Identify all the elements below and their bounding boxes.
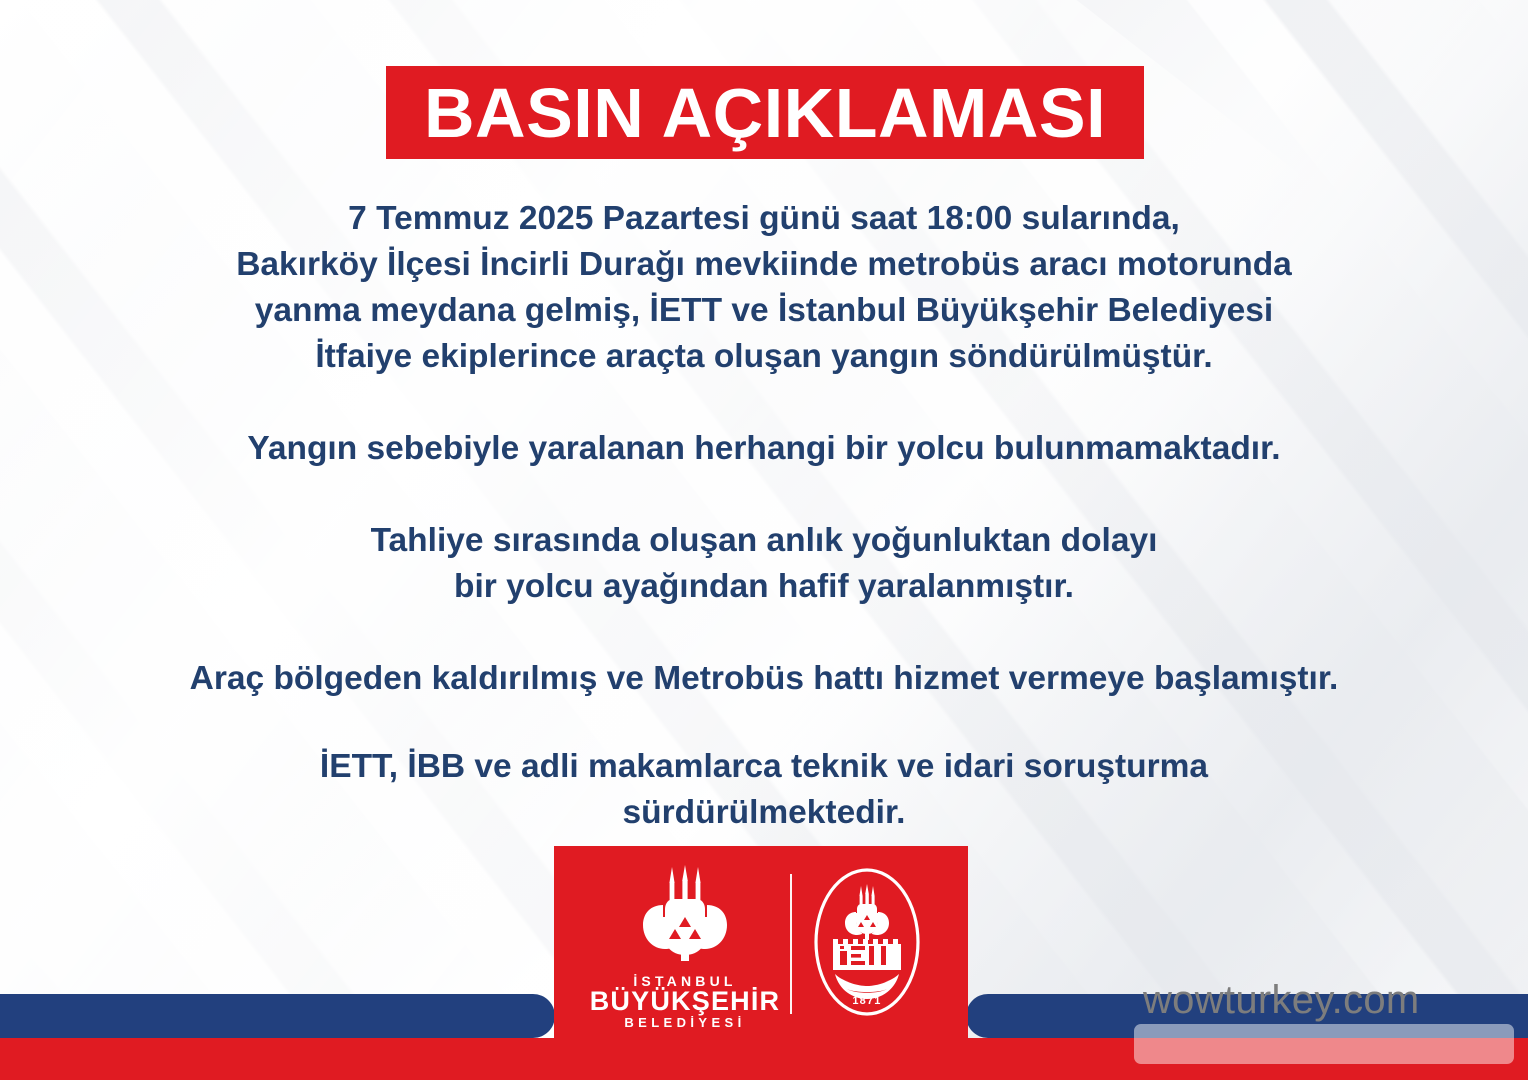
page-title: BASIN AÇIKLAMASI: [424, 78, 1106, 148]
logo-row: İSTANBUL BÜYÜKŞEHİR BELEDİYESİ: [554, 846, 968, 1042]
body-line: sürdürülmektedir.: [0, 790, 1528, 836]
paragraph-spacer: [0, 702, 1528, 744]
body-line: yanma meydana gelmiş, İETT ve İstanbul B…: [0, 288, 1528, 334]
ibb-logo: İSTANBUL BÜYÜKŞEHİR BELEDİYESİ: [590, 859, 780, 1029]
ibb-wordmark: İSTANBUL BÜYÜKŞEHİR BELEDİYESİ: [590, 974, 781, 1029]
paragraph-spacer: [0, 380, 1528, 426]
body-line: Yangın sebebiyle yaralanan herhangi bir …: [0, 426, 1528, 472]
iett-logo: 1871: [802, 866, 932, 1023]
paragraph-spacer: [0, 472, 1528, 518]
watermark-label: wowturkey.com: [1143, 978, 1420, 1023]
footer-navy-bar-left: [0, 994, 555, 1038]
body-line: Bakırköy İlçesi İncirli Durağı mevkiinde…: [0, 242, 1528, 288]
title-banner: BASIN AÇIKLAMASI: [386, 66, 1144, 159]
ibb-wordmark-line2: BÜYÜKŞEHİR: [590, 988, 781, 1016]
logo-divider: [790, 874, 792, 1014]
iett-oval-crest-icon: 1871: [811, 866, 923, 1023]
body-line: İETT, İBB ve adli makamlarca teknik ve i…: [0, 744, 1528, 790]
body-line: Araç bölgeden kaldırılmış ve Metrobüs ha…: [0, 656, 1528, 702]
watermark-box: [1134, 1024, 1514, 1064]
ibb-tulip-mosque-icon: [627, 865, 743, 966]
iett-year-label: 1871: [852, 995, 881, 1007]
paragraph-spacer: [0, 610, 1528, 656]
ibb-wordmark-line3: BELEDİYESİ: [590, 1016, 781, 1029]
body-line: İtfaiye ekiplerince araçta oluşan yangın…: [0, 334, 1528, 380]
press-release-poster: BASIN AÇIKLAMASI 7 Temmuz 2025 Pazartesi…: [0, 0, 1528, 1080]
body-line: bir yolcu ayağından hafif yaralanmıştır.: [0, 564, 1528, 610]
announcement-body: 7 Temmuz 2025 Pazartesi günü saat 18:00 …: [0, 196, 1528, 836]
footer-logo-panel: İSTANBUL BÜYÜKŞEHİR BELEDİYESİ: [554, 846, 968, 1080]
body-line: 7 Temmuz 2025 Pazartesi günü saat 18:00 …: [0, 196, 1528, 242]
body-line: Tahliye sırasında oluşan anlık yoğunlukt…: [0, 518, 1528, 564]
